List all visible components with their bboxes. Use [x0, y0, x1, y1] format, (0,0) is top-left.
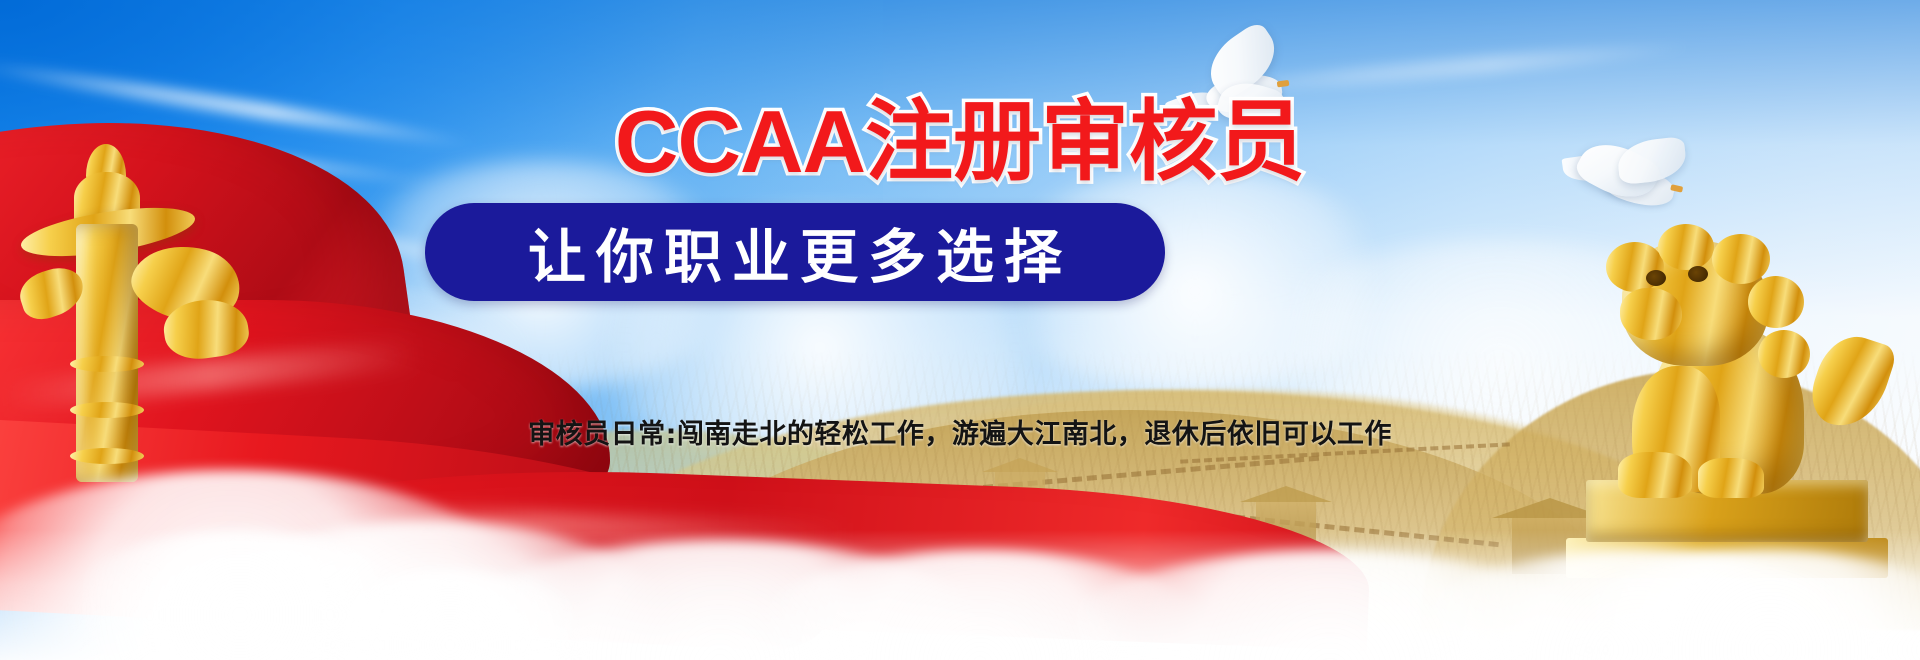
headline-chinese: 注册审核员	[865, 90, 1305, 193]
ccaa-promo-banner: CCAA注册审核员 让你职业更多选择 审核员日常:闯南走北的轻松工作，游遍大江南…	[0, 0, 1920, 660]
banner-tagline: 审核员日常:闯南走北的轻松工作，游遍大江南北，退休后依旧可以工作	[0, 412, 1920, 451]
subtitle-pill-label: 让你职业更多选择	[518, 210, 1072, 294]
banner-content: CCAA注册审核员 让你职业更多选择 审核员日常:闯南走北的轻松工作，游遍大江南…	[0, 0, 1920, 660]
banner-headline: CCAA注册审核员	[0, 98, 1920, 186]
headline-latin: CCAA	[615, 92, 865, 191]
subtitle-pill[interactable]: 让你职业更多选择	[425, 203, 1165, 301]
